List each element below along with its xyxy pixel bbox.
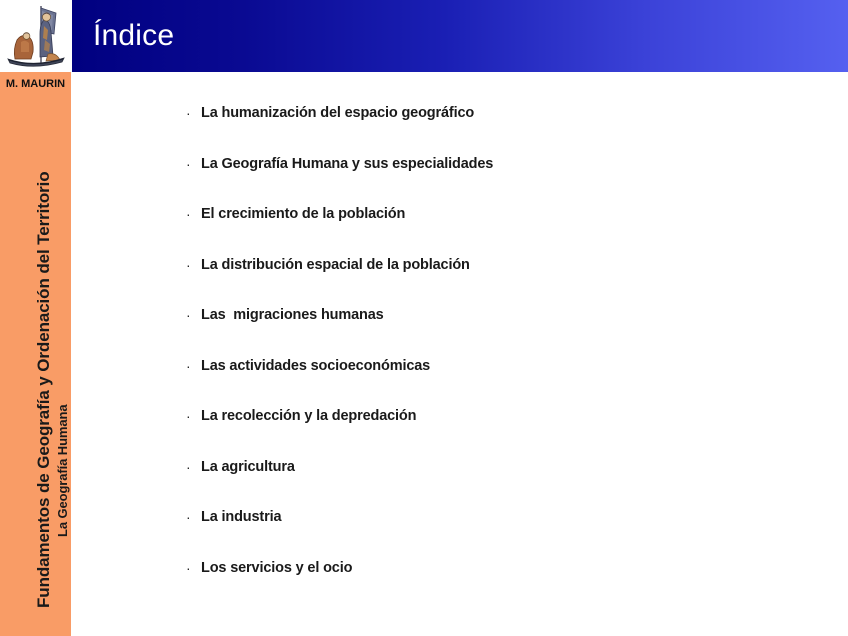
header-band: Índice (72, 0, 848, 72)
list-item-label: La recolección y la depredación (201, 406, 416, 426)
bullet-icon: · (186, 154, 201, 174)
logo-container (0, 0, 71, 72)
list-item[interactable]: · Las actividades socioeconómicas (186, 356, 826, 407)
list-item[interactable]: · La Geografía Humana y sus especialidad… (186, 154, 826, 205)
list-item[interactable]: · Los servicios y el ocio (186, 558, 826, 609)
sidebar-vertical-text-group: Fundamentos de Geografía y Ordenación de… (0, 96, 71, 636)
list-item[interactable]: · La humanización del espacio geográfico (186, 103, 826, 154)
list-item-label: Los servicios y el ocio (201, 558, 352, 578)
index-list: · La humanización del espacio geográfico… (186, 103, 826, 608)
list-item[interactable]: · La distribución espacial de la poblaci… (186, 255, 826, 306)
course-subtitle: La Geografía Humana (55, 405, 70, 537)
list-item-label: La Geografía Humana y sus especialidades (201, 154, 493, 174)
bullet-icon: · (186, 255, 201, 275)
list-item-label: Las migraciones humanas (201, 305, 384, 325)
slide-canvas: Índice (0, 0, 848, 636)
bullet-icon: · (186, 103, 201, 123)
bullet-icon: · (186, 305, 201, 325)
bullet-icon: · (186, 558, 201, 578)
list-item[interactable]: · La agricultura (186, 457, 826, 508)
bullet-icon: · (186, 406, 201, 426)
sidebar: M. MAURIN Fundamentos de Geografía y Ord… (0, 0, 71, 636)
course-title: Fundamentos de Geografía y Ordenación de… (34, 171, 54, 608)
author-band: M. MAURIN (0, 72, 71, 96)
list-item-label: La distribución espacial de la población (201, 255, 470, 275)
list-item[interactable]: · La recolección y la depredación (186, 406, 826, 457)
list-item-label: El crecimiento de la población (201, 204, 405, 224)
bullet-icon: · (186, 507, 201, 527)
bullet-icon: · (186, 356, 201, 376)
list-item[interactable]: · La industria (186, 507, 826, 558)
list-item-label: La industria (201, 507, 281, 527)
list-item-label: Las actividades socioeconómicas (201, 356, 430, 376)
list-item[interactable]: · Las migraciones humanas (186, 305, 826, 356)
bullet-icon: · (186, 457, 201, 477)
list-item[interactable]: · El crecimiento de la población (186, 204, 826, 255)
list-item-label: La humanización del espacio geográfico (201, 103, 474, 123)
logo-illustration-icon (0, 0, 71, 72)
bullet-icon: · (186, 204, 201, 224)
author-name: M. MAURIN (0, 72, 71, 96)
page-title: Índice (93, 18, 174, 54)
list-item-label: La agricultura (201, 457, 295, 477)
